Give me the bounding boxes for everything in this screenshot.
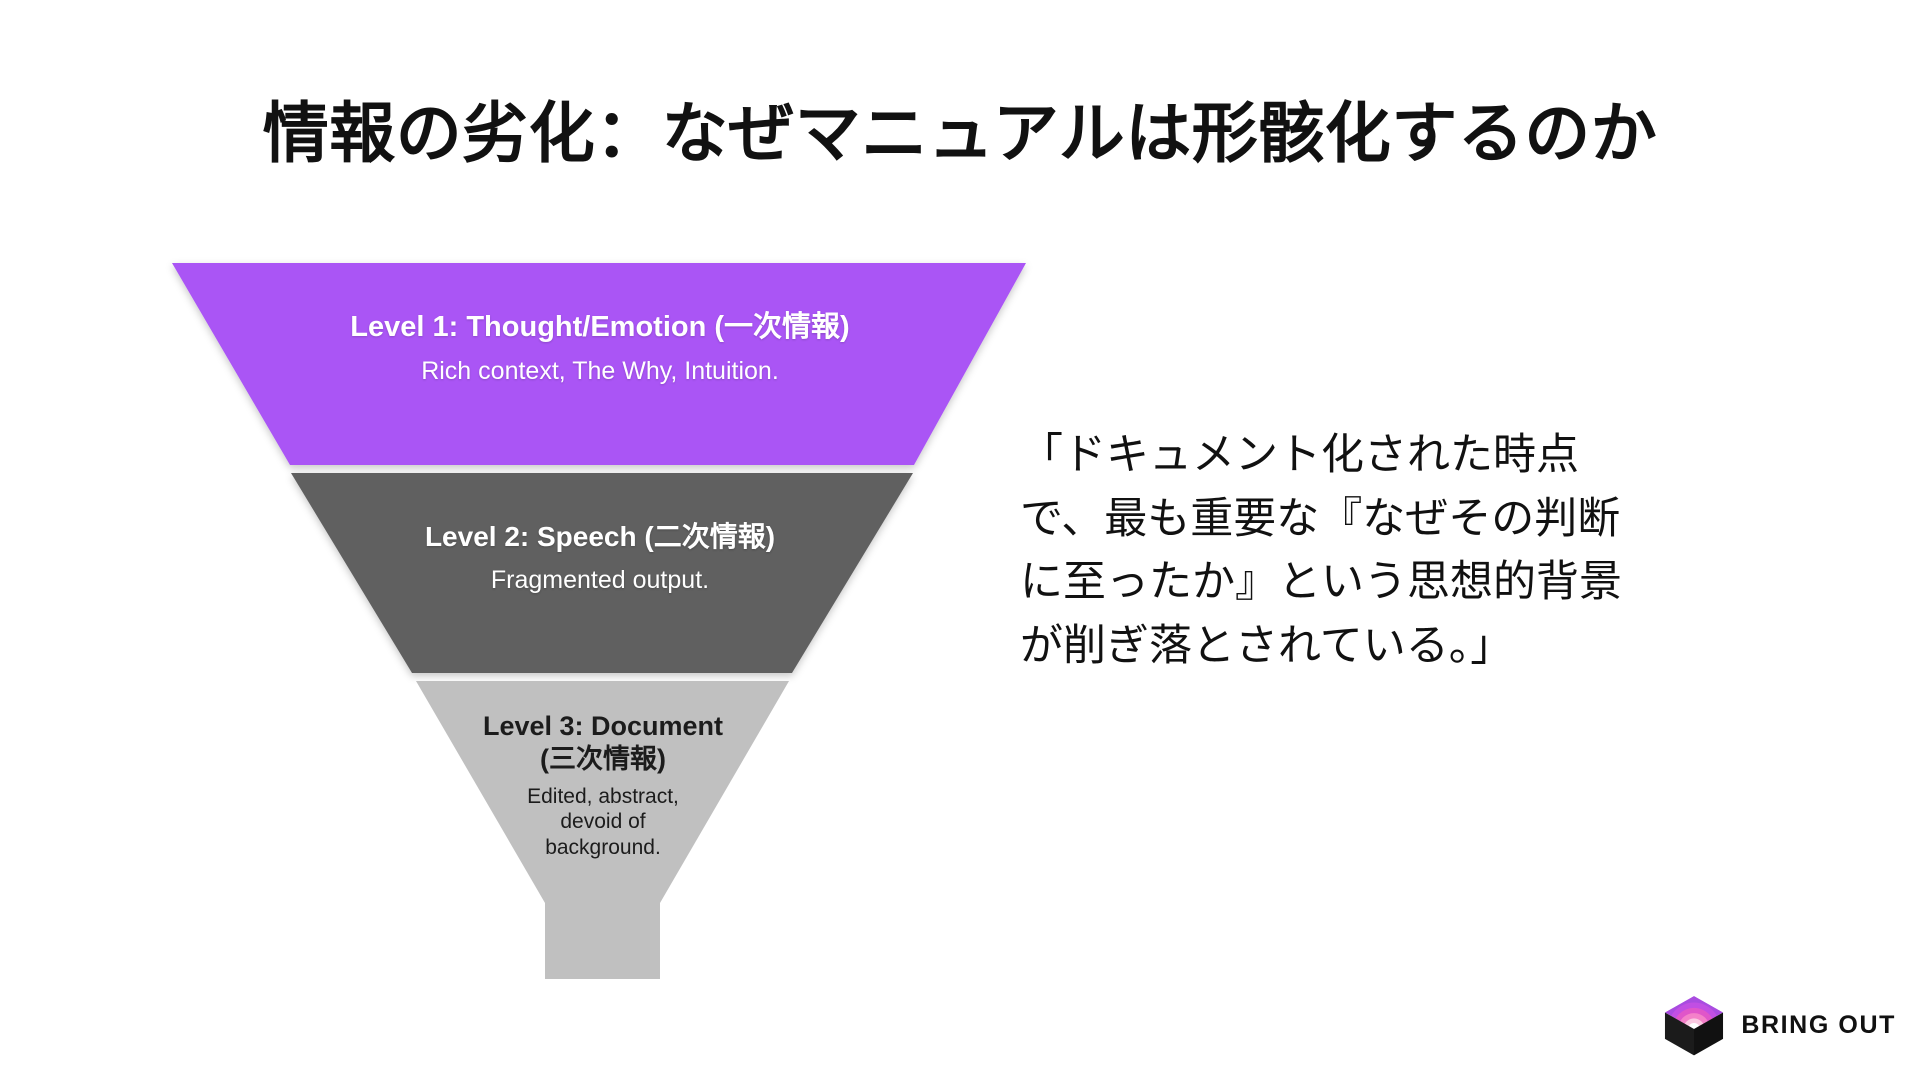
funnel-segment-level-2 xyxy=(291,473,913,673)
cube-icon xyxy=(1661,992,1727,1058)
quote-text: 「ドキュメント化された時点で、最も重要な『なぜその判断に至ったか』という思想的背… xyxy=(1020,424,1660,679)
funnel-diagram: Level 1: Thought/Emotion (一次情報) Rich con… xyxy=(160,255,1040,985)
funnel-shapes xyxy=(160,255,1040,985)
funnel-stem xyxy=(545,901,660,979)
page-title: 情報の劣化：なぜマニュアルは形骸化するのか xyxy=(0,96,1920,172)
slide-root: 情報の劣化：なぜマニュアルは形骸化するのか Level 1: Thought/E… xyxy=(0,0,1920,1080)
funnel-segment-level-1 xyxy=(172,263,1026,465)
logo-wordmark: BRING OUT xyxy=(1741,1011,1896,1040)
brand-logo: BRING OUT xyxy=(1661,992,1896,1058)
funnel-segment-level-3 xyxy=(416,681,789,903)
